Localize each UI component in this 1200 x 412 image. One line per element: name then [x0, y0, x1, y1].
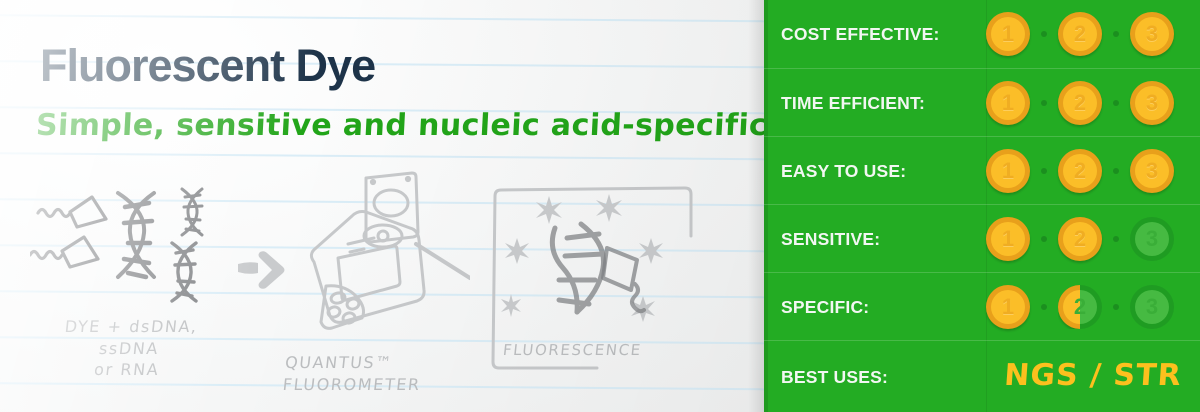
- rating-row-time-efficient: TIME EFFICIENT: 1 2 3: [764, 68, 1200, 137]
- coin-3: 3: [1130, 149, 1174, 193]
- coin-2: 2: [1058, 285, 1102, 329]
- dye-and-nucleic-acids-illustration: [30, 185, 250, 325]
- coin-separator-dot: [1041, 168, 1047, 174]
- rating-coins: 1 2 3: [986, 0, 1200, 68]
- coin-separator-dot: [1113, 100, 1119, 106]
- rating-row-cost-effective: COST EFFECTIVE: 1 2 3: [764, 0, 1200, 68]
- coin-2: 2: [1058, 149, 1102, 193]
- rating-row-label: COST EFFECTIVE:: [781, 24, 940, 45]
- coin-3: 3: [1130, 217, 1174, 261]
- coin-separator-dot: [1041, 304, 1047, 310]
- callout-label: FLUORESCENCE: [502, 340, 674, 360]
- device-label: QUANTUS™ FLUOROMETER: [282, 352, 447, 395]
- rating-row-specific: SPECIFIC: 1 2 3: [764, 272, 1200, 341]
- arrow-right-icon: [236, 250, 288, 290]
- rating-coins: 1 2 3: [986, 273, 1200, 341]
- coin-separator-dot: [1113, 31, 1119, 37]
- dye-input-label: DYE + dsDNA, ssDNA or RNA: [31, 316, 228, 381]
- rating-coins: 1 2 3: [986, 69, 1200, 137]
- coin-2: 2: [1058, 81, 1102, 125]
- paper-right-edge-shadow: [748, 0, 764, 412]
- rating-row-label: SPECIFIC:: [781, 297, 869, 318]
- coin-separator-dot: [1041, 236, 1047, 242]
- rating-row-best-uses: BEST USES: NGS / STR: [764, 340, 1200, 412]
- best-uses-value: NGS / STR: [984, 341, 1200, 409]
- coin-separator-dot: [1041, 100, 1047, 106]
- rating-row-sensitive: SENSITIVE: 1 2 3: [764, 204, 1200, 273]
- infographic-root: Fluorescent Dye Simple, sensitive and nu…: [0, 0, 1200, 412]
- coin-2: 2: [1058, 12, 1102, 56]
- notebook-paper-panel: Fluorescent Dye Simple, sensitive and nu…: [0, 0, 764, 412]
- rating-row-easy-to-use: EASY TO USE: 1 2 3: [764, 136, 1200, 205]
- coin-3: 3: [1130, 12, 1174, 56]
- rating-coins: 1 2 3: [986, 137, 1200, 205]
- coin-separator-dot: [1113, 236, 1119, 242]
- rating-row-label: BEST USES:: [781, 367, 888, 388]
- coin-separator-dot: [1113, 168, 1119, 174]
- coin-3: 3: [1130, 81, 1174, 125]
- coin-1: 1: [986, 149, 1030, 193]
- coin-3: 3: [1130, 285, 1174, 329]
- coin-separator-dot: [1113, 304, 1119, 310]
- coin-2: 2: [1058, 217, 1102, 261]
- coin-1: 1: [986, 217, 1030, 261]
- coin-1: 1: [986, 81, 1030, 125]
- ratings-panel: COST EFFECTIVE: 1 2 3 TIME EFFICIENT: 1 …: [764, 0, 1200, 412]
- page-subtitle: Simple, sensitive and nucleic acid-speci…: [35, 108, 764, 143]
- rating-row-label: TIME EFFICIENT:: [781, 93, 925, 114]
- coin-1: 1: [986, 285, 1030, 329]
- rating-row-label: EASY TO USE:: [781, 161, 906, 182]
- coin-1: 1: [986, 12, 1030, 56]
- rating-row-label: SENSITIVE:: [781, 229, 880, 250]
- coin-separator-dot: [1041, 31, 1047, 37]
- quantus-fluorometer-illustration: [290, 170, 470, 370]
- rating-coins: 1 2 3: [986, 205, 1200, 273]
- page-title: Fluorescent Dye: [40, 43, 375, 88]
